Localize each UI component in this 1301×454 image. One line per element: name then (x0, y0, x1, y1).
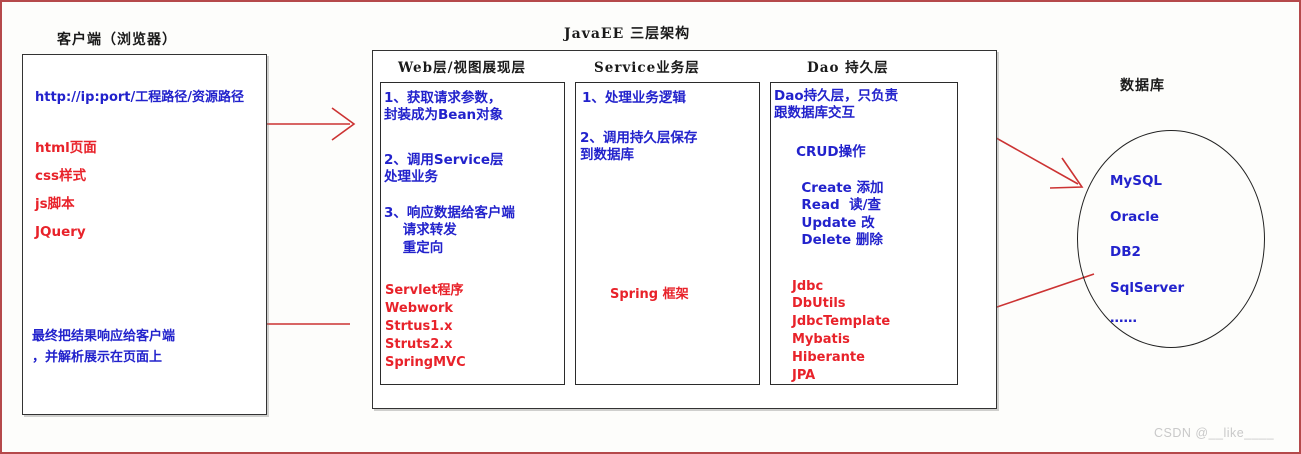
client-heading: 客户端（浏览器） (57, 32, 177, 50)
dao-layer-crud-title: CRUD操作 (782, 144, 866, 161)
web-framework-servlet: Servlet程序 (385, 283, 464, 300)
web-layer-step-3: 3、响应数据给客户端 请求转发 重定向 (384, 205, 515, 257)
dao-layer-heading: Dao 持久层 (807, 60, 889, 77)
web-layer-heading: Web层/视图展现层 (398, 60, 526, 77)
web-framework-webwork: Webwork (385, 301, 453, 318)
dao-framework-hibernate: Hiberante (792, 350, 865, 367)
database-heading: 数据库 (1120, 78, 1165, 96)
service-framework-spring: Spring 框架 (610, 287, 689, 304)
csdn-watermark: CSDN @__like____ (1154, 426, 1274, 440)
client-tech-js: js脚本 (35, 196, 75, 213)
dao-framework-jpa: JPA (792, 368, 815, 385)
client-footer-line2: ，并解析展示在页面上 (32, 350, 162, 367)
service-layer-heading: Service业务层 (594, 60, 700, 77)
dao-framework-mybatis: Mybatis (792, 332, 850, 349)
dao-framework-dbutils: DbUtils (792, 296, 846, 313)
web-framework-springmvc: SpringMVC (385, 355, 466, 372)
dao-framework-jdbctemplate: JdbcTemplate (792, 314, 890, 331)
web-framework-struts2: Struts2.x (385, 337, 453, 354)
client-tech-html: html页面 (35, 140, 97, 157)
web-layer-step-1: 1、获取请求参数， 封装成为Bean对象 (384, 90, 503, 125)
database-item-oracle: Oracle (1110, 209, 1159, 226)
service-layer-step-1: 1、处理业务逻辑 (582, 90, 686, 107)
database-item-sqlserver: SqlServer (1110, 280, 1184, 297)
dao-framework-jdbc: Jdbc (792, 279, 823, 296)
database-item-ellipsis: …… (1110, 310, 1137, 327)
client-url-text: http://ip:port/工程路径/资源路径 (35, 90, 244, 107)
service-layer-step-2: 2、调用持久层保存 到数据库 (580, 130, 697, 165)
service-layer-box (575, 82, 760, 385)
diagram-canvas: 客户端（浏览器） http://ip:port/工程路径/资源路径 html页面… (0, 0, 1301, 454)
client-footer-line1: 最终把结果响应给客户端 (32, 329, 175, 346)
client-tech-css: css样式 (35, 168, 86, 185)
database-item-mysql: MySQL (1110, 173, 1162, 190)
dao-layer-desc: Dao持久层，只负责 跟数据库交互 (774, 88, 898, 123)
client-tech-jquery: JQuery (35, 224, 86, 241)
javaee-title: JavaEE 三层架构 (564, 26, 690, 44)
web-layer-step-2: 2、调用Service层 处理业务 (384, 152, 504, 187)
dao-layer-crud-list: Create 添加 Read 读/查 Update 改 Delete 删除 (792, 180, 884, 249)
database-circle (1077, 130, 1265, 348)
web-framework-struts1: Strtus1.x (385, 319, 453, 336)
database-item-db2: DB2 (1110, 244, 1141, 261)
